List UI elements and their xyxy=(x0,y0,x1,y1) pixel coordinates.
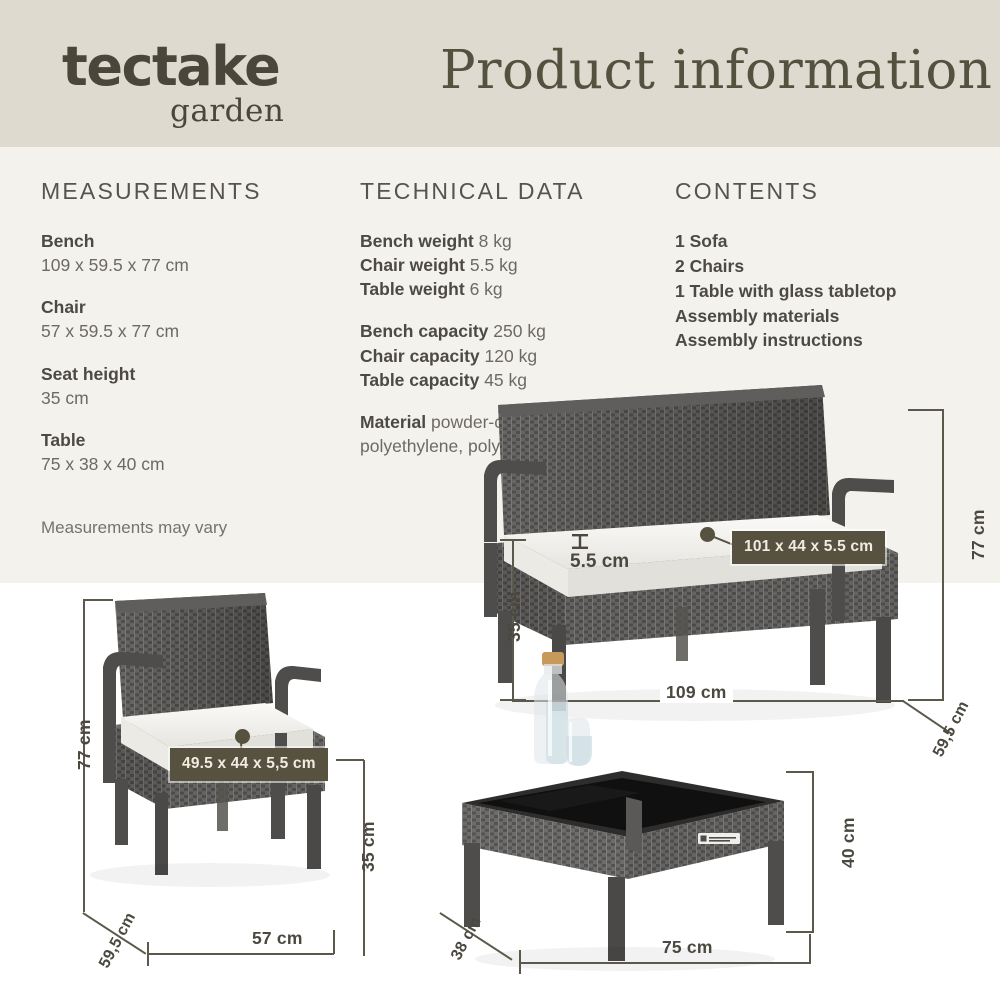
table-width-label: 75 cm xyxy=(662,937,713,958)
measurement-item-table: Table 75 x 38 x 40 cm xyxy=(41,428,341,476)
chair-depth-label: 59,5 cm xyxy=(96,910,140,972)
chair-seat-tick-top xyxy=(336,759,364,761)
measurement-value: 57 x 59.5 x 77 cm xyxy=(41,319,341,343)
technical-label: Material xyxy=(360,412,426,432)
technical-row-table-weight: Table weight 6 kg xyxy=(360,277,670,301)
measurement-label: Seat height xyxy=(41,362,341,386)
bench-cushion-thickness: 5.5 cm xyxy=(570,533,629,573)
bench-height-label: 77 cm xyxy=(968,509,989,560)
product-information-sheet: tectake garden Product information MEASU… xyxy=(0,0,1000,1000)
bench-cushion-callout: 101 x 44 x 5.5 cm xyxy=(732,531,885,564)
bench-height-tick-bottom xyxy=(908,699,944,701)
technical-label: Chair capacity xyxy=(360,346,480,366)
chair-width-tick-left xyxy=(147,942,149,966)
technical-label: Chair weight xyxy=(360,255,465,275)
table-width-tick-left xyxy=(519,950,521,974)
technical-value: 120 kg xyxy=(485,346,538,366)
contents-heading: CONTENTS xyxy=(675,180,975,203)
bench-height-line xyxy=(942,410,944,700)
measurement-item-seat-height: Seat height 35 cm xyxy=(41,362,341,410)
technical-row-chair-weight: Chair weight 5.5 kg xyxy=(360,253,670,277)
measurement-value: 75 x 38 x 40 cm xyxy=(41,452,341,476)
chair-width-tick-right xyxy=(333,930,335,954)
table-height-tick-bottom xyxy=(786,931,814,933)
measurement-item-chair: Chair 57 x 59.5 x 77 cm xyxy=(41,295,341,343)
chair-height-label: 77 cm xyxy=(74,719,95,770)
measurement-label: Table xyxy=(41,428,341,452)
group-spacer xyxy=(360,301,670,319)
bench-seat-height-label: 35 cm xyxy=(504,591,525,642)
bottle-and-glass-illustration xyxy=(526,650,616,795)
chair-width-line xyxy=(148,953,334,955)
technical-label: Table capacity xyxy=(360,370,479,390)
table-width-tick-right xyxy=(809,934,811,964)
bench-cushion-thickness-label: 5.5 cm xyxy=(570,551,629,572)
contents-item: Assembly instructions xyxy=(675,328,975,353)
chair-height-tick-top xyxy=(83,599,113,601)
chair-cushion-callout: 49.5 x 44 x 5,5 cm xyxy=(170,748,328,781)
brand-name: tectake xyxy=(62,40,392,94)
technical-value: 6 kg xyxy=(470,279,503,299)
chair-seat-height-label: 35 cm xyxy=(358,821,379,872)
measurements-column: MEASUREMENTS Bench 109 x 59.5 x 77 cm Ch… xyxy=(41,180,341,540)
technical-weights-group: Bench weight 8 kg Chair weight 5.5 kg Ta… xyxy=(360,229,670,301)
brand-logo: tectake garden xyxy=(62,40,392,127)
measurements-note: Measurements may vary xyxy=(41,516,341,540)
technical-value: 8 kg xyxy=(479,231,512,251)
measurement-value: 109 x 59.5 x 77 cm xyxy=(41,253,341,277)
technical-label: Bench weight xyxy=(360,231,474,251)
contents-item: 1 Sofa xyxy=(675,229,975,254)
chair-cushion-callout-dot xyxy=(235,729,250,744)
thickness-icon xyxy=(570,533,590,551)
contents-item: 2 Chairs xyxy=(675,254,975,279)
bench-seat-tick-top xyxy=(500,539,526,541)
technical-row-bench-weight: Bench weight 8 kg xyxy=(360,229,670,253)
table-height-line xyxy=(812,772,814,932)
table-width-line xyxy=(520,962,810,964)
table-illustration xyxy=(440,745,800,975)
measurements-heading: MEASUREMENTS xyxy=(41,180,341,203)
table-height-label: 40 cm xyxy=(838,817,859,868)
technical-row-chair-capacity: Chair capacity 120 kg xyxy=(360,344,670,368)
brand-subtitle: garden xyxy=(170,96,392,127)
bench-height-tick-top xyxy=(908,409,944,411)
measurement-label: Chair xyxy=(41,295,341,319)
technical-label: Table weight xyxy=(360,279,465,299)
measurement-item-bench: Bench 109 x 59.5 x 77 cm xyxy=(41,229,341,277)
measurement-label: Bench xyxy=(41,229,341,253)
technical-value: 250 kg xyxy=(493,321,546,341)
contents-item: 1 Table with glass tabletop xyxy=(675,279,975,304)
technical-value: 5.5 kg xyxy=(470,255,518,275)
measurement-value: 35 cm xyxy=(41,386,341,410)
contents-column: CONTENTS 1 Sofa 2 Chairs 1 Table with gl… xyxy=(675,180,975,353)
page-title: Product information xyxy=(440,40,980,101)
bench-width-label: 109 cm xyxy=(660,682,733,703)
chair-width-label: 57 cm xyxy=(252,928,303,949)
technical-label: Bench capacity xyxy=(360,321,488,341)
table-height-tick-top xyxy=(786,771,814,773)
technical-row-bench-capacity: Bench capacity 250 kg xyxy=(360,319,670,343)
technical-data-heading: TECHNICAL DATA xyxy=(360,180,670,203)
contents-item: Assembly materials xyxy=(675,304,975,329)
